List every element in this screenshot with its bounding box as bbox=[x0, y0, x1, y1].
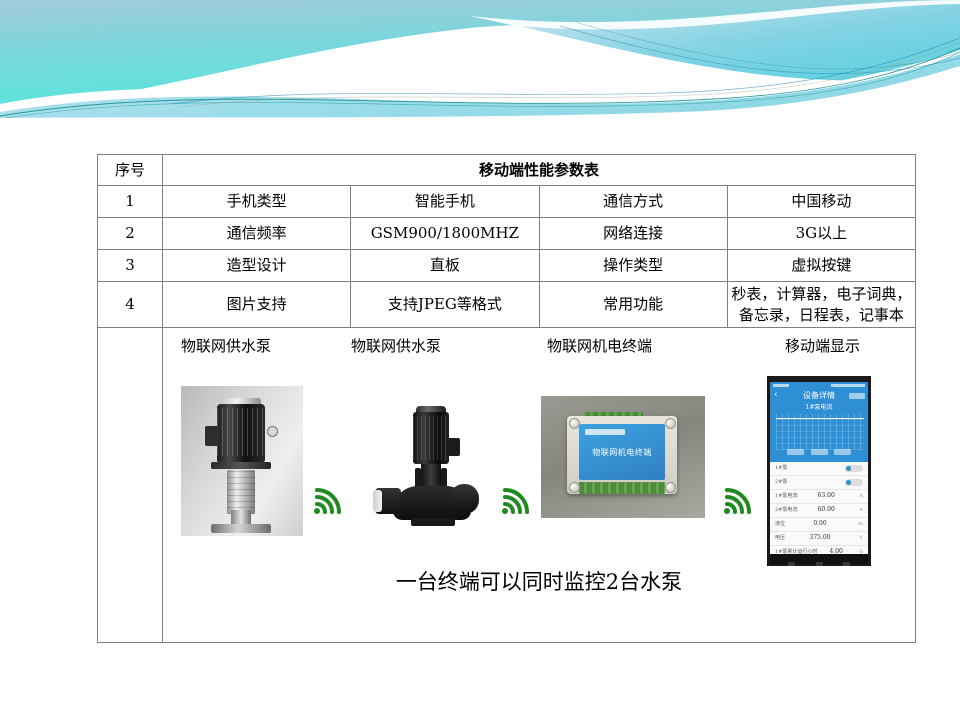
pump-motor-fins bbox=[217, 408, 265, 456]
list-item[interactable]: 1#泵电流 63.00 A bbox=[770, 490, 868, 504]
list-item-unit: A bbox=[855, 507, 863, 514]
list-item-key: 液位 bbox=[775, 521, 785, 528]
pump-upper-flange bbox=[211, 462, 271, 469]
gallery-cell: 物联网供水泵 物联网供水泵 物联网机电终端 移动端显示 bbox=[163, 328, 916, 643]
row-value-2: 虚拟按键 bbox=[727, 250, 915, 282]
pump-2-toggle[interactable] bbox=[845, 479, 863, 486]
wifi-icon-glyph bbox=[721, 484, 757, 516]
phone-chart-range-buttons[interactable] bbox=[770, 440, 868, 460]
phone-nav-action-button[interactable] bbox=[849, 393, 865, 399]
home-icon[interactable] bbox=[816, 562, 823, 566]
phone-screen: ‹ 设备详情 1#泵电流 bbox=[770, 382, 868, 554]
terminal-bottom-connector bbox=[579, 482, 665, 494]
device-gallery: 物联网供水泵 物联网供水泵 物联网机电终端 移动端显示 bbox=[163, 328, 915, 642]
inline-pump-motor-fins bbox=[413, 416, 449, 460]
inline-pump-outlet bbox=[449, 484, 479, 514]
gallery-label-mobile: 移动端显示 bbox=[785, 336, 860, 356]
table-title-cell: 移动端性能参数表 bbox=[163, 155, 916, 186]
row-index: 1 bbox=[98, 186, 163, 218]
inline-pump-inlet-flange bbox=[373, 490, 382, 512]
table-row: 4 图片支持 支持JPEG等格式 常用功能 秒表，计算器，电子词典，备忘录，日程… bbox=[98, 282, 916, 328]
row-label-2: 操作类型 bbox=[539, 250, 727, 282]
phone-current-chart: 1#泵电流 bbox=[770, 402, 868, 462]
decorative-wave-header bbox=[0, 0, 960, 118]
row-value-2: 秒表，计算器，电子词典，备忘录，日程表，记事本 bbox=[727, 282, 915, 328]
wifi-icon-glyph bbox=[499, 484, 535, 516]
chart-range-button[interactable] bbox=[834, 449, 851, 455]
list-item-key: 电压 bbox=[775, 535, 785, 542]
inline-pump-foot bbox=[411, 518, 455, 526]
iot-terminal-device-photo: 物联网机电终端 bbox=[541, 396, 705, 518]
terminal-screw bbox=[665, 418, 676, 429]
wifi-signal-icon bbox=[721, 484, 757, 516]
list-item[interactable]: 1#泵 bbox=[770, 462, 868, 476]
pump-stage-grooves bbox=[227, 470, 255, 514]
list-item-unit: m bbox=[855, 521, 863, 528]
list-item-unit: A bbox=[855, 493, 863, 500]
list-item-value: 63.00 bbox=[818, 492, 835, 500]
list-item[interactable]: 电压 375.00 V bbox=[770, 532, 868, 546]
row-value-1: 支持JPEG等格式 bbox=[351, 282, 539, 328]
row-value-1: 智能手机 bbox=[351, 186, 539, 218]
table-row: 2 通信频率 GSM900/1800MHZ 网络连接 3G以上 bbox=[98, 218, 916, 250]
row-label-1: 造型设计 bbox=[163, 250, 351, 282]
row-index: 2 bbox=[98, 218, 163, 250]
carrier-icon bbox=[773, 384, 789, 387]
list-item-key: 1#泵电流 bbox=[775, 493, 797, 500]
list-item[interactable]: 液位 0.00 m bbox=[770, 518, 868, 532]
row-label-2: 网络连接 bbox=[539, 218, 727, 250]
row-label-2: 常用功能 bbox=[539, 282, 727, 328]
chart-range-button[interactable] bbox=[811, 449, 828, 455]
mobile-spec-table: 序号 移动端性能参数表 1 手机类型 智能手机 通信方式 中国移动 2 通信频率… bbox=[97, 154, 916, 643]
gallery-empty-index-cell bbox=[98, 328, 163, 643]
gallery-label-pump-2: 物联网供水泵 bbox=[351, 336, 441, 356]
pump-junction-box bbox=[205, 426, 219, 446]
row-label-1: 图片支持 bbox=[163, 282, 351, 328]
phone-chart-series-line bbox=[776, 418, 864, 419]
table-header-row: 序号 移动端性能参数表 bbox=[98, 155, 916, 186]
terminal-brand-logo bbox=[585, 429, 625, 435]
gallery-caption: 一台终端可以同时监控2台水泵 bbox=[163, 568, 915, 596]
wave-graphic bbox=[0, 0, 960, 118]
row-label-2: 通信方式 bbox=[539, 186, 727, 218]
terminal-screw bbox=[569, 482, 580, 493]
menu-icon[interactable] bbox=[788, 562, 795, 566]
row-label-1: 通信频率 bbox=[163, 218, 351, 250]
terminal-label-text: 物联网机电终端 bbox=[579, 448, 665, 459]
list-item-value: 0.00 bbox=[813, 520, 826, 528]
terminal-screw bbox=[665, 482, 676, 493]
row-index: 3 bbox=[98, 250, 163, 282]
gallery-label-terminal: 物联网机电终端 bbox=[547, 336, 652, 356]
gallery-row: 物联网供水泵 物联网供水泵 物联网机电终端 移动端显示 bbox=[98, 328, 916, 643]
wifi-icon-glyph bbox=[311, 484, 347, 516]
index-header-cell: 序号 bbox=[98, 155, 163, 186]
wifi-signal-icon bbox=[311, 484, 347, 516]
list-item-key: 2#泵 bbox=[775, 479, 787, 486]
wifi-signal-icon bbox=[499, 484, 535, 516]
list-item[interactable]: 2#泵电流 60.00 A bbox=[770, 504, 868, 518]
inline-pump-support-right bbox=[441, 468, 447, 488]
vertical-multistage-pump-photo bbox=[181, 386, 303, 536]
row-label-1: 手机类型 bbox=[163, 186, 351, 218]
list-item-value: 375.00 bbox=[810, 534, 831, 542]
list-item[interactable]: 2#泵 bbox=[770, 476, 868, 490]
phone-status-bar bbox=[770, 382, 868, 389]
list-item-value: 60.00 bbox=[818, 506, 835, 514]
inline-pump-junction-box bbox=[447, 438, 460, 456]
gallery-label-pump-1: 物联网供水泵 bbox=[181, 336, 271, 356]
list-item-key: 2#泵电流 bbox=[775, 507, 797, 514]
table-row: 3 造型设计 直板 操作类型 虚拟按键 bbox=[98, 250, 916, 282]
row-value-1: 直板 bbox=[351, 250, 539, 282]
phone-soft-key-bar[interactable] bbox=[770, 554, 868, 564]
row-index: 4 bbox=[98, 282, 163, 328]
slide-content-area: 序号 移动端性能参数表 1 手机类型 智能手机 通信方式 中国移动 2 通信频率… bbox=[0, 118, 960, 720]
terminal-screw bbox=[569, 418, 580, 429]
inline-pipeline-pump-photo bbox=[371, 398, 491, 538]
list-item-unit: V bbox=[855, 535, 863, 542]
pump-1-toggle[interactable] bbox=[845, 465, 863, 472]
table-row: 1 手机类型 智能手机 通信方式 中国移动 bbox=[98, 186, 916, 218]
battery-signal-icons bbox=[831, 384, 865, 387]
back-nav-icon[interactable] bbox=[843, 562, 850, 566]
chart-range-button[interactable] bbox=[787, 449, 804, 455]
row-value-2: 3G以上 bbox=[727, 218, 915, 250]
mobile-app-screenshot: ‹ 设备详情 1#泵电流 bbox=[767, 376, 871, 566]
pump-knob bbox=[267, 426, 278, 437]
row-value-1: GSM900/1800MHZ bbox=[351, 218, 539, 250]
pump-base-flange bbox=[211, 524, 271, 533]
phone-chart-title: 1#泵电流 bbox=[770, 404, 868, 412]
phone-parameter-list: 1#泵 2#泵 1#泵电流 63.00 bbox=[770, 462, 868, 554]
list-item[interactable]: 1#泵累计运行小时 4.00 h bbox=[770, 546, 868, 554]
row-value-2: 中国移动 bbox=[727, 186, 915, 218]
phone-nav-bar: ‹ 设备详情 bbox=[770, 389, 868, 402]
list-item-key: 1#泵 bbox=[775, 465, 787, 472]
